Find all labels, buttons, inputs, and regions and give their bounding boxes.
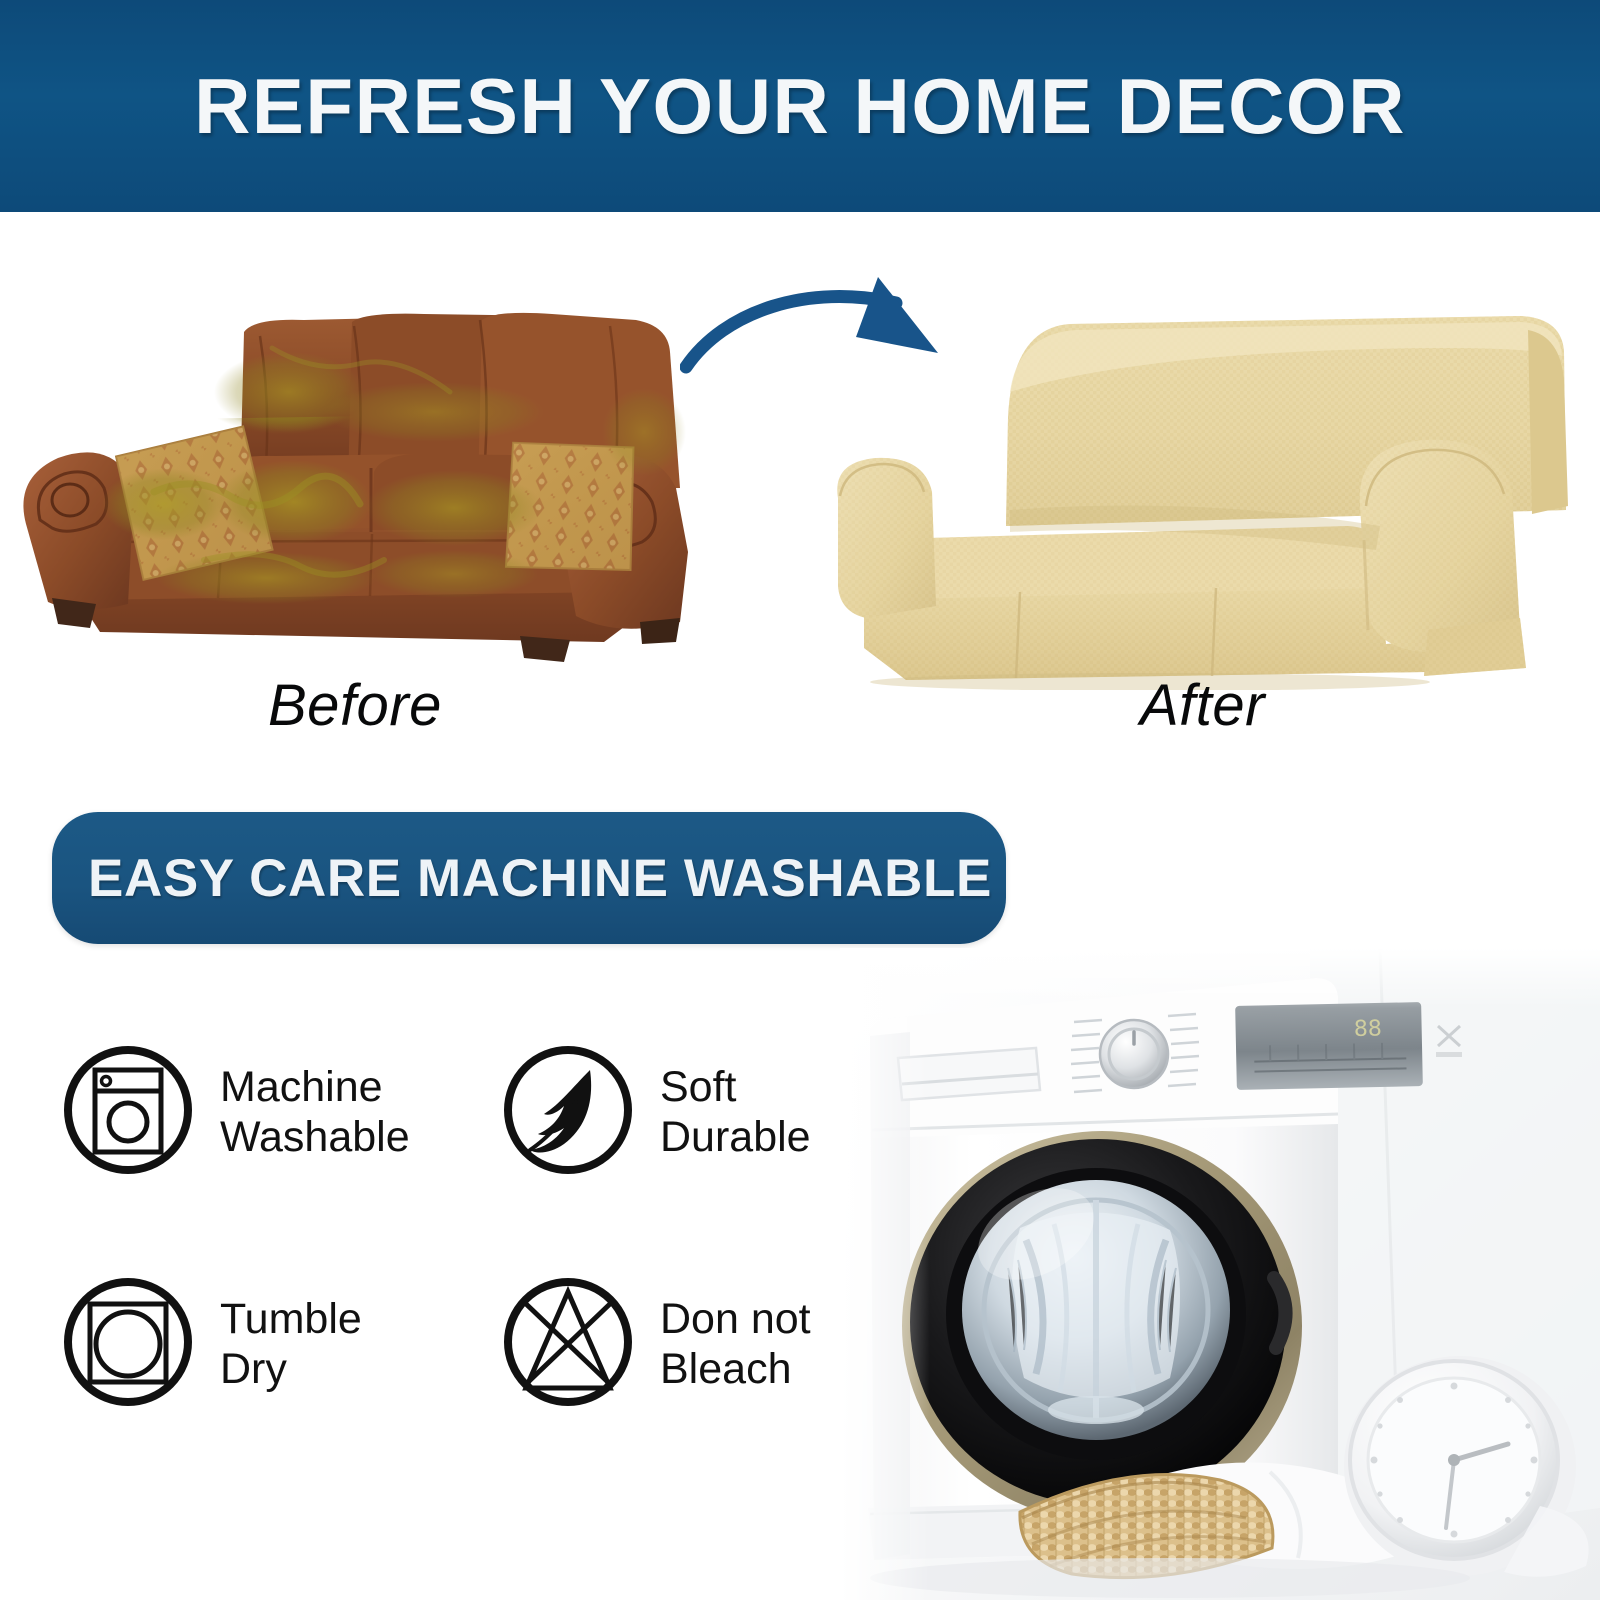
care-feature-tumble-dry: Tumble Dry [58, 1272, 362, 1417]
machine-washable-icon [58, 1040, 198, 1185]
easy-care-banner-text: EASY CARE MACHINE WASHABLE [52, 848, 992, 909]
do-not-bleach-icon [498, 1272, 638, 1417]
care-feature-grid: Machine Washable Soft Durable [58, 1040, 858, 1460]
page-title: REFRESH YOUR HOME DECOR [194, 61, 1406, 152]
svg-text:88: 88 [1354, 1016, 1383, 1042]
header-banner: REFRESH YOUR HOME DECOR [0, 0, 1600, 212]
before-label: Before [268, 672, 442, 739]
photo-fade-top [840, 948, 1600, 1008]
after-label: After [1140, 672, 1265, 739]
care-feature-label: Don not Bleach [660, 1295, 811, 1393]
product-marketing-image: REFRESH YOUR HOME DECOR [0, 0, 1600, 1600]
care-feature-label: Soft Durable [660, 1063, 811, 1161]
before-sofa-image [4, 292, 704, 662]
easy-care-banner: EASY CARE MACHINE WASHABLE [52, 812, 1006, 944]
care-feature-label: Machine Washable [220, 1063, 410, 1161]
leaf-soft-durable-icon [498, 1040, 638, 1185]
care-feature-soft-durable: Soft Durable [498, 1040, 811, 1185]
after-sofa-image [820, 300, 1600, 690]
photo-fade-left [840, 948, 930, 1600]
care-feature-machine-washable: Machine Washable [58, 1040, 410, 1185]
washing-machine-photo: 88 [840, 948, 1600, 1600]
tumble-dry-icon [58, 1272, 198, 1417]
care-feature-do-not-bleach: Don not Bleach [498, 1272, 811, 1417]
care-feature-label: Tumble Dry [220, 1295, 362, 1393]
